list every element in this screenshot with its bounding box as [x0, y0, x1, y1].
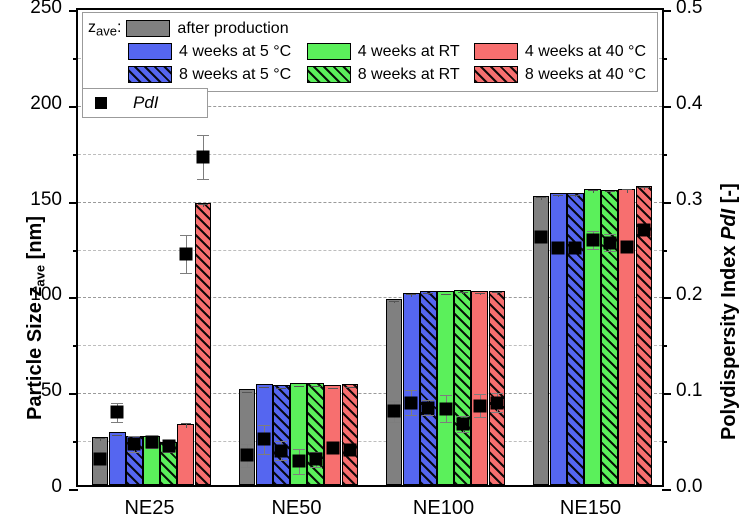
legend-zave-label: zave: — [88, 19, 121, 39]
bar — [386, 299, 403, 485]
legend-label-8w-40c: 8 weeks at 40 °C — [525, 66, 646, 84]
pdi-marker — [456, 417, 469, 430]
legend-main: zave: after production 4 weeks at 5 °C 4… — [82, 12, 658, 92]
y-tick-left — [69, 489, 78, 491]
y-tick-left — [69, 297, 78, 299]
y-tick-right — [662, 393, 671, 395]
bar-error-cap — [276, 388, 286, 389]
bar — [403, 293, 420, 485]
bar-error-cap — [570, 195, 580, 196]
legend-label-4w-rt: 4 weeks at RT — [358, 43, 460, 61]
bar-error-cap — [181, 423, 191, 424]
y-tick-left — [69, 393, 78, 395]
pdi-marker — [569, 241, 582, 254]
pdi-marker — [343, 443, 356, 456]
bar — [307, 383, 324, 485]
pdi-error-cap — [440, 395, 452, 396]
legend-row-1: zave: after production — [88, 17, 652, 40]
bar — [239, 389, 256, 485]
bar — [454, 290, 471, 485]
pdi-error-cap — [94, 450, 106, 451]
pdi-error-cap — [241, 444, 253, 445]
legend-label-4w-5c: 4 weeks at 5 °C — [179, 43, 291, 61]
pdi-error-cap — [180, 273, 192, 274]
legend-label-8w-rt: 8 weeks at RT — [358, 66, 460, 84]
bar-error-cap — [639, 187, 649, 188]
y-tick-right-minor — [662, 441, 667, 443]
pdi-marker — [309, 453, 322, 466]
y-tick-left — [69, 10, 78, 12]
y-axis-title-left-sub: ave — [33, 265, 48, 287]
pdi-marker — [490, 396, 503, 409]
pdi-error-cap — [587, 231, 599, 232]
bar-error-cap — [423, 293, 433, 294]
pdi-error-cap — [197, 179, 209, 180]
bar — [471, 291, 488, 485]
pdi-error-cap — [604, 251, 616, 252]
pdi-error-cap — [405, 415, 417, 416]
pdi-error-cap — [587, 249, 599, 250]
pdi-marker — [620, 240, 633, 253]
pdi-marker — [241, 449, 254, 462]
pdi-error-cap — [474, 394, 486, 395]
legend-pdi[interactable]: PdI — [82, 88, 208, 118]
pdi-marker — [586, 233, 599, 246]
y-tick-left — [69, 106, 78, 108]
y-tick-label-left: 50 — [0, 380, 62, 402]
y-tick-label-left: 150 — [0, 189, 62, 211]
pdi-marker — [94, 453, 107, 466]
y-tick-label-left: 250 — [0, 0, 62, 19]
pdi-marker — [535, 231, 548, 244]
pdi-error-cap — [128, 452, 140, 453]
y-axis-title-right-pre: Polydispersity Index — [718, 240, 740, 440]
pdi-error-cap — [422, 415, 434, 416]
y-tick-left-minor — [73, 441, 78, 443]
y-tick-label-right: 0.2 — [676, 284, 740, 306]
bar-error-cap — [441, 294, 451, 295]
pdi-error-cap — [491, 412, 503, 413]
pdi-error-cap — [197, 135, 209, 136]
y-axis-title-left-unit: [nm] — [24, 216, 46, 265]
y-tick-left-minor — [73, 154, 78, 156]
pdi-error-cap — [180, 235, 192, 236]
bar — [109, 432, 126, 485]
x-tick-label: NE50 — [271, 497, 321, 516]
pdi-error-cap — [258, 454, 270, 455]
pdi-marker — [552, 241, 565, 254]
pdi-error-cap — [491, 393, 503, 394]
x-tick-label: NE25 — [124, 497, 174, 516]
bar-error-cap — [475, 293, 485, 294]
y-tick-label-left: 100 — [0, 284, 62, 306]
legend-swatch-red-hatched — [474, 66, 518, 83]
pdi-marker — [196, 150, 209, 163]
legend-swatch-blue-hatched — [128, 66, 172, 83]
legend-label-pdi: PdI — [133, 93, 159, 113]
pdi-marker — [258, 433, 271, 446]
bar — [420, 291, 437, 485]
pdi-marker — [326, 441, 339, 454]
bar-error-cap — [458, 292, 468, 293]
bar-error-cap — [406, 294, 416, 295]
y-tick-left-minor — [73, 250, 78, 252]
bar-error-cap — [605, 191, 615, 192]
pdi-marker — [603, 236, 616, 249]
pdi-marker — [179, 248, 192, 261]
pdi-error-cap — [457, 432, 469, 433]
bar-error-cap — [389, 301, 399, 302]
bar-error-cap — [294, 386, 304, 387]
legend-item-8w-40c[interactable]: 8 weeks at 40 °C — [474, 66, 646, 84]
x-tick-label: NE100 — [413, 497, 474, 516]
pdi-marker — [439, 402, 452, 415]
y-tick-right-minor — [662, 154, 667, 156]
y-tick-right — [662, 106, 671, 108]
bar-error-cap — [622, 189, 632, 190]
pdi-marker — [162, 439, 175, 452]
y-tick-label-right: 0.4 — [676, 93, 740, 115]
legend-swatch-blue — [128, 43, 172, 60]
y-tick-label-left: 200 — [0, 93, 62, 115]
bar-error-cap — [198, 204, 208, 205]
bar — [618, 189, 635, 485]
y-tick-right-minor — [662, 345, 667, 347]
x-tick-label: NE150 — [560, 497, 621, 516]
legend-swatch-gray — [126, 20, 170, 37]
y-tick-left-minor — [73, 58, 78, 60]
y-tick-label-right: 0.3 — [676, 189, 740, 211]
pdi-error-cap — [405, 390, 417, 391]
bar — [550, 193, 567, 485]
legend-label-4w-40c: 4 weeks at 40 °C — [525, 43, 646, 61]
bar-error-cap — [536, 197, 546, 198]
y-tick-right — [662, 10, 671, 12]
figure-canvas: Particle Size zave [nm] Polydispersity I… — [0, 0, 740, 516]
bar — [273, 385, 290, 485]
pdi-error-cap — [241, 467, 253, 468]
pdi-marker — [405, 396, 418, 409]
pdi-error-cap — [111, 403, 123, 404]
pdi-error-cap — [388, 401, 400, 402]
pdi-marker — [388, 405, 401, 418]
bar-error-cap — [95, 438, 105, 439]
bar-error-cap — [112, 435, 122, 436]
y-tick-left — [69, 202, 78, 204]
bar — [489, 291, 506, 485]
y-tick-label-right: 0.0 — [676, 476, 740, 498]
legend-row-2: 4 weeks at 5 °C 4 weeks at RT 4 weeks at… — [88, 40, 652, 63]
pdi-error-cap — [275, 460, 287, 461]
pdi-marker-icon — [95, 97, 107, 109]
pdi-marker — [111, 406, 124, 419]
pdi-marker — [275, 444, 288, 457]
bar-error-cap — [588, 190, 598, 191]
y-tick-right — [662, 202, 671, 204]
legend-swatch-green-hatched — [307, 66, 351, 83]
bar-error-cap — [553, 195, 563, 196]
bar-error-cap — [311, 386, 321, 387]
bar — [437, 291, 454, 485]
y-tick-right-minor — [662, 250, 667, 252]
legend-item-4w-5c[interactable]: 4 weeks at 5 °C — [128, 43, 301, 61]
bar — [177, 424, 194, 485]
pdi-error-cap — [604, 234, 616, 235]
legend-row-3: 8 weeks at 5 °C 8 weeks at RT 8 weeks at… — [88, 63, 652, 86]
y-tick-left-minor — [73, 345, 78, 347]
pdi-marker — [422, 401, 435, 414]
pdi-error-cap — [474, 417, 486, 418]
legend-item-4w-40c[interactable]: 4 weeks at 40 °C — [474, 43, 646, 61]
legend-label-after-production: after production — [177, 20, 288, 38]
bar-error-cap — [259, 387, 269, 388]
bar — [324, 385, 341, 485]
legend-swatch-red — [474, 43, 518, 60]
pdi-error-cap — [293, 449, 305, 450]
pdi-error-cap — [94, 469, 106, 470]
y-tick-right — [662, 297, 671, 299]
pdi-error-cap — [293, 474, 305, 475]
pdi-error-cap — [440, 422, 452, 423]
pdi-marker — [145, 436, 158, 449]
pdi-error-cap — [258, 425, 270, 426]
legend-item-8w-rt[interactable]: 8 weeks at RT — [307, 66, 468, 84]
pdi-marker — [128, 437, 141, 450]
legend-item-after-production[interactable]: after production — [126, 20, 288, 38]
bar-error-cap — [242, 392, 252, 393]
pdi-marker — [637, 224, 650, 237]
legend-item-4w-rt[interactable]: 4 weeks at RT — [307, 43, 468, 61]
gridline-minor — [78, 154, 662, 155]
pdi-error-cap — [388, 422, 400, 423]
y-axis-title-right-symbol: PdI — [718, 209, 740, 240]
legend-item-8w-5c[interactable]: 8 weeks at 5 °C — [128, 66, 301, 84]
legend-label-8w-5c: 8 weeks at 5 °C — [179, 66, 291, 84]
bar — [567, 193, 584, 485]
legend-swatch-green — [307, 43, 351, 60]
pdi-error-cap — [111, 422, 123, 423]
y-tick-right — [662, 489, 671, 491]
y-tick-right-minor — [662, 58, 667, 60]
bar-error-cap — [492, 292, 502, 293]
bar-error-cap — [345, 387, 355, 388]
pdi-error-cap — [275, 441, 287, 442]
bar — [342, 384, 359, 485]
bar — [195, 203, 212, 485]
y-tick-label-right: 0.1 — [676, 380, 740, 402]
pdi-marker — [292, 455, 305, 468]
y-tick-label-right: 0.5 — [676, 0, 740, 19]
bar-error-cap — [328, 388, 338, 389]
pdi-marker — [473, 399, 486, 412]
pdi-error-cap — [310, 467, 322, 468]
y-tick-label-left: 0 — [0, 476, 62, 498]
